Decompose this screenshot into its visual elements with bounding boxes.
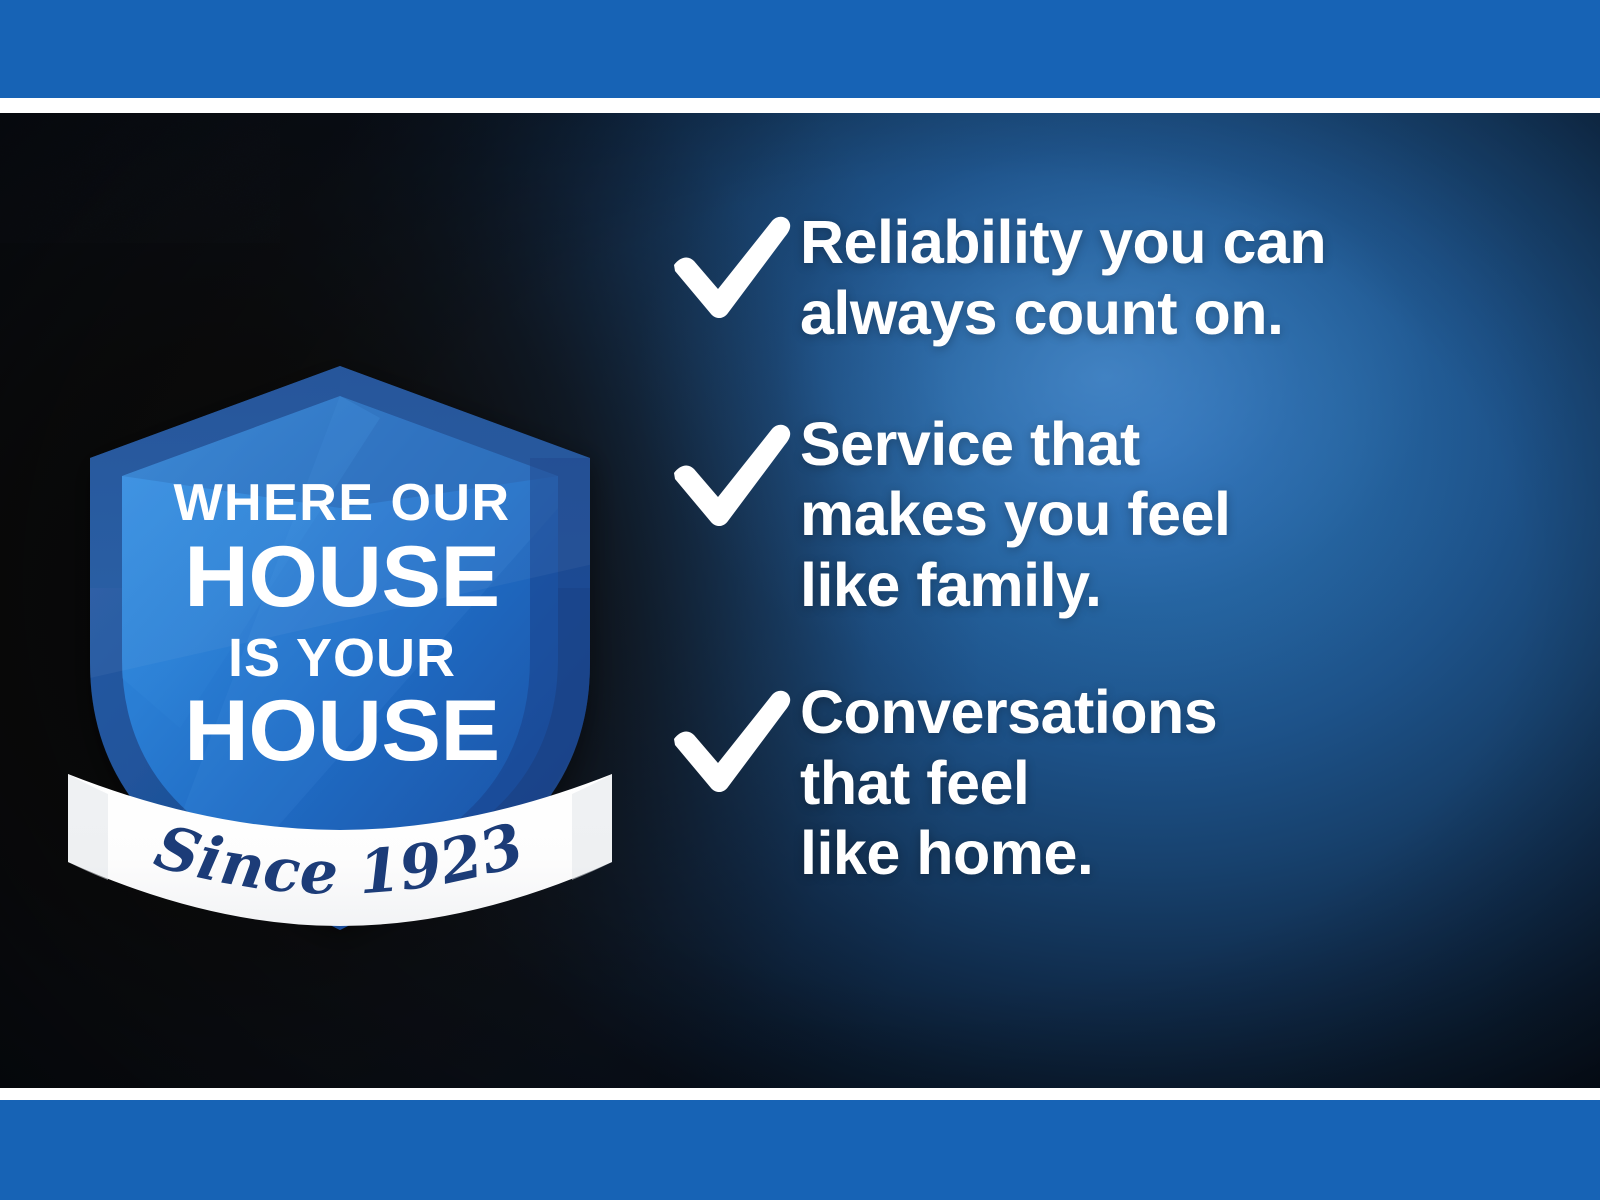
bottom-brand-bar <box>0 1100 1600 1200</box>
benefit-item: Reliability you can always count on. <box>660 203 1520 349</box>
promo-poster: WHERE OUR HOUSE IS YOUR HOUSE Since 1923 <box>0 0 1600 1200</box>
check-icon <box>660 417 800 529</box>
benefits-list: Reliability you can always count on. Ser… <box>660 203 1520 889</box>
brand-shield-badge: WHERE OUR HOUSE IS YOUR HOUSE Since 1923 <box>60 258 620 938</box>
badge-line-1: WHERE OUR <box>173 474 510 532</box>
check-icon <box>660 209 800 321</box>
top-white-divider <box>0 98 1600 113</box>
benefit-text: Reliability you can always count on. <box>800 203 1326 349</box>
benefit-text: Service that makes you feel like family. <box>800 405 1230 621</box>
benefit-text: Conversations that feel like home. <box>800 673 1217 889</box>
badge-line-4: HOUSE <box>184 683 499 779</box>
badge-line-3: IS YOUR <box>228 628 456 688</box>
poster-stage: WHERE OUR HOUSE IS YOUR HOUSE Since 1923 <box>0 113 1600 1088</box>
badge-line-2: HOUSE <box>184 529 499 625</box>
benefit-item: Service that makes you feel like family. <box>660 405 1520 621</box>
bottom-white-divider <box>0 1088 1600 1100</box>
top-brand-bar <box>0 0 1600 98</box>
check-icon <box>660 683 800 795</box>
benefit-item: Conversations that feel like home. <box>660 673 1520 889</box>
